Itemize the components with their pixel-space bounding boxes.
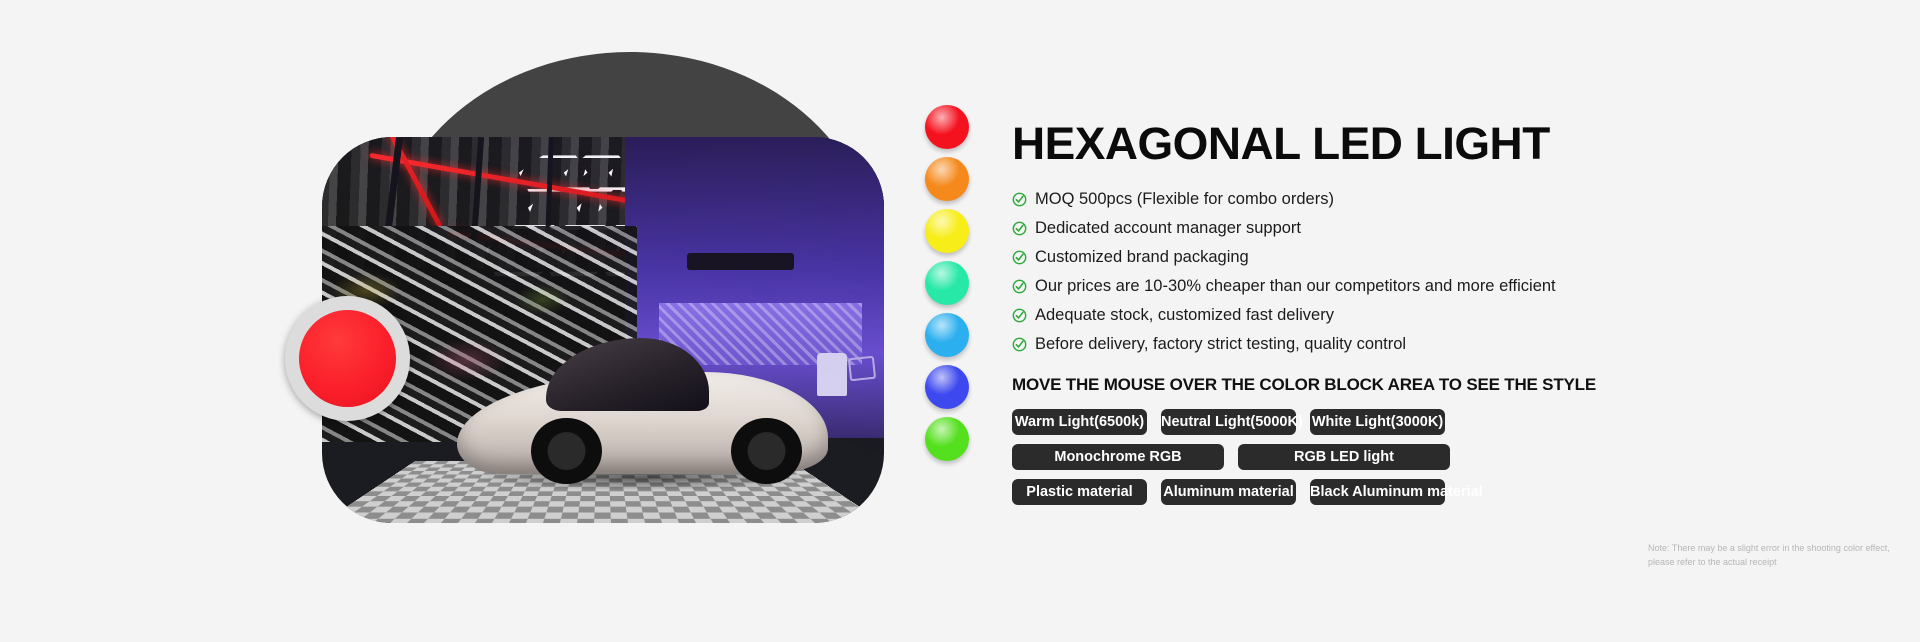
feature-item-label: Adequate stock, customized fast delivery bbox=[1035, 306, 1334, 325]
check-circle-icon bbox=[1012, 250, 1027, 265]
product-photo bbox=[322, 137, 884, 523]
car-wheel-front bbox=[531, 418, 601, 484]
red-color-preview-fill bbox=[299, 310, 396, 407]
feature-item-label: Our prices are 10-30% cheaper than our c… bbox=[1035, 277, 1556, 296]
product-info-panel: HEXAGONAL LED LIGHT MOQ 500pcs (Flexible… bbox=[1000, 118, 1560, 514]
car-cabin bbox=[546, 338, 709, 411]
feature-item-label: Customized brand packaging bbox=[1035, 248, 1249, 267]
swatch-yellow[interactable] bbox=[925, 209, 969, 253]
swatch-blue[interactable] bbox=[925, 365, 969, 409]
hover-hint-text: MOVE THE MOUSE OVER THE COLOR BLOCK AREA… bbox=[1012, 375, 1560, 395]
option-row-rgb-type: Monochrome RGBRGB LED light bbox=[1012, 444, 1560, 470]
red-color-preview-swatch[interactable] bbox=[285, 296, 410, 421]
option-button[interactable]: White Light(3000K) bbox=[1310, 409, 1445, 435]
option-button[interactable]: RGB LED light bbox=[1238, 444, 1450, 470]
feature-list: MOQ 500pcs (Flexible for combo orders)De… bbox=[1012, 188, 1560, 355]
page-title: HEXAGONAL LED LIGHT bbox=[1012, 118, 1571, 170]
feature-item: Our prices are 10-30% cheaper than our c… bbox=[1012, 275, 1560, 297]
option-button[interactable]: Black Aluminum material bbox=[1310, 479, 1445, 505]
option-button[interactable]: Monochrome RGB bbox=[1012, 444, 1224, 470]
option-button[interactable]: Aluminum material bbox=[1161, 479, 1296, 505]
swatch-spring-green[interactable] bbox=[925, 261, 969, 305]
note-line-2: please refer to the actual receipt bbox=[1648, 556, 1898, 570]
feature-item-label: Dedicated account manager support bbox=[1035, 219, 1301, 238]
option-button[interactable]: Plastic material bbox=[1012, 479, 1147, 505]
feature-item: Before delivery, factory strict testing,… bbox=[1012, 333, 1560, 355]
car-wheel-rear bbox=[731, 418, 801, 484]
feature-item-label: Before delivery, factory strict testing,… bbox=[1035, 335, 1406, 354]
check-circle-icon bbox=[1012, 279, 1027, 294]
feature-item: MOQ 500pcs (Flexible for combo orders) bbox=[1012, 188, 1560, 210]
feature-item: Dedicated account manager support bbox=[1012, 217, 1560, 239]
swatch-red[interactable] bbox=[925, 105, 969, 149]
sports-car bbox=[457, 318, 828, 484]
option-groups: Warm Light(6500k)Neutral Light(5000K)Whi… bbox=[1012, 409, 1560, 505]
check-circle-icon bbox=[1012, 337, 1027, 352]
option-row-color-temperature: Warm Light(6500k)Neutral Light(5000K)Whi… bbox=[1012, 409, 1560, 435]
swatch-sky-blue[interactable] bbox=[925, 313, 969, 357]
feature-item: Adequate stock, customized fast delivery bbox=[1012, 304, 1560, 326]
option-row-material: Plastic materialAluminum materialBlack A… bbox=[1012, 479, 1560, 505]
swatch-green[interactable] bbox=[925, 417, 969, 461]
option-button[interactable]: Neutral Light(5000K) bbox=[1161, 409, 1296, 435]
option-button[interactable]: Warm Light(6500k) bbox=[1012, 409, 1147, 435]
check-circle-icon bbox=[1012, 221, 1027, 236]
air-conditioner bbox=[687, 253, 794, 270]
product-visual bbox=[0, 0, 900, 642]
note-line-1: Note: There may be a slight error in the… bbox=[1648, 542, 1898, 556]
feature-item: Customized brand packaging bbox=[1012, 246, 1560, 268]
swatch-orange[interactable] bbox=[925, 157, 969, 201]
hanger-icon bbox=[848, 356, 877, 382]
garage-scene bbox=[322, 137, 884, 523]
check-circle-icon bbox=[1012, 308, 1027, 323]
feature-item-label: MOQ 500pcs (Flexible for combo orders) bbox=[1035, 190, 1334, 209]
check-circle-icon bbox=[1012, 192, 1027, 207]
shooting-color-note: Note: There may be a slight error in the… bbox=[1648, 542, 1898, 570]
color-swatch-column bbox=[925, 105, 979, 469]
